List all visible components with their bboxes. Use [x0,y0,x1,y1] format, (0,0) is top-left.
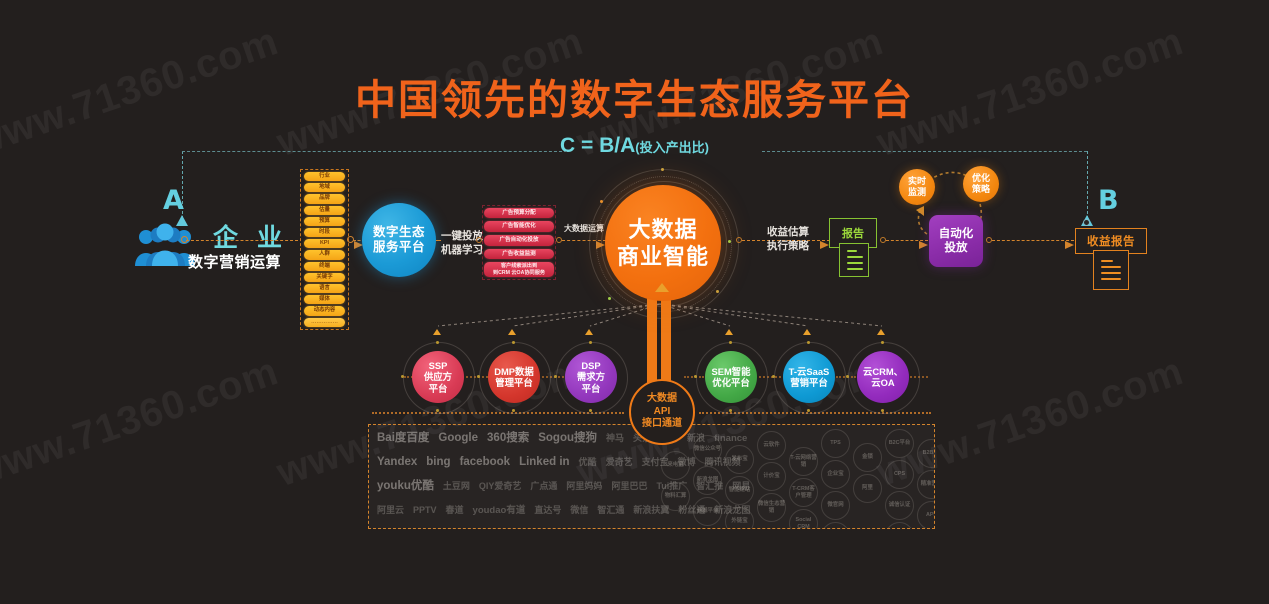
service-bubble[interactable]: Social CRM [789,509,818,529]
tag-item[interactable]: KPI [304,239,345,248]
optimize-line-2: 策略 [972,184,990,195]
fanout-arrow [803,329,811,335]
tag-item[interactable]: 终端 [304,262,345,271]
platform-dot [729,409,732,412]
strategy-label: 收益估算 执行策略 [752,225,824,253]
platform-dot [589,341,592,344]
logo-facebook: facebook [460,457,511,468]
ssp-line-1: SSP [429,360,448,371]
page-title: 中国领先的数字生态服务平台 [0,66,1269,126]
report-label: 报告 [842,225,864,241]
infographic-canvas: www.71360.com www.71360.com www.71360.co… [0,0,1269,604]
strategy-line-1: 收益估算 [752,225,824,239]
service-bubble[interactable]: B2C平台 [885,429,914,458]
ad-item[interactable]: 广告自动化投放 [484,235,554,246]
platform-dot [589,409,592,412]
service-bubble-cluster: 来电宝 物料汇算 微信公众号 新浪龙图 商城平台 发布宝 智能建站 外链宝 云软… [661,429,935,529]
platform-dot [554,375,557,378]
ad-item-crm[interactable]: 客户线索派出到到CRM 云OA协同服务 [484,262,554,277]
orbit-dot [716,290,719,293]
monitor-line-2: 监测 [908,187,926,198]
frame-top-right [762,151,1087,152]
sem-line-2: 优化平台 [712,377,750,388]
tag-item[interactable]: 时段 [304,228,345,237]
service-bubble[interactable]: APP [917,501,935,529]
service-bubble[interactable]: …… [885,522,914,529]
ad-item[interactable]: 广告预算分配 [484,208,554,219]
api-line-1: 大数据 [647,393,677,406]
logo-tudou: 土豆网 [443,481,470,492]
realtime-monitor-circle[interactable]: 实时 监测 [899,169,935,205]
logo-linkedin: Linked in [519,457,569,468]
api-line-3: 接口通道 [642,418,682,431]
ssp-line-2: 供应方 [424,371,452,382]
formula-subtitle: C = B/A(投入产出比) [0,134,1269,158]
logo-yandex: Yandex [377,457,417,468]
service-bubble[interactable]: 微官网 [821,491,850,520]
logo-baidu: Bai度百度 [377,433,429,444]
tag-item[interactable]: 关键字 [304,273,345,282]
ad-operations-list[interactable]: 广告预算分配 广告智能优化 广告自动化投放 广告收益监测 客户线索派出到到CRM… [482,205,556,280]
formula-note: (投入产出比) [635,140,709,155]
platform-dot [694,375,697,378]
platform-dot [477,375,480,378]
service-bubble[interactable]: 企业宝 [821,460,850,489]
connector-arrow-revenue [1065,236,1074,254]
fanout-arrow [725,329,733,335]
logo-bing: bing [426,457,450,468]
connector-node-b [1083,219,1090,226]
tag-item[interactable]: 媒体 [304,295,345,304]
watermark: www.71360.com [0,349,284,496]
service-bubble[interactable]: 计价宝 [757,462,786,491]
platform-dot [881,341,884,344]
service-bubble[interactable]: 微信生态营销 [757,493,786,522]
logo-zhidahao: 直达号 [534,505,561,516]
optimize-strategy-circle[interactable]: 优化 策略 [963,166,999,202]
service-bubble[interactable]: 物料汇算 [661,482,690,511]
platform-dot [729,341,732,344]
marker-a: A [163,185,184,216]
saas-line-1: T-云SaaS [789,366,830,377]
crm-line-2: 云OA [871,377,894,388]
strategy-line-2: 执行策略 [752,239,824,253]
platform-line-1: 数字生态 [373,225,425,240]
data-trunk-right [661,292,671,387]
automation-delivery-box[interactable]: 自动化 投放 [929,215,983,267]
connector-people-to-tags [186,240,298,241]
tag-item[interactable]: 动态内容 [304,306,345,315]
digital-ecosystem-platform-circle[interactable]: 数字生态 服务平台 [362,203,436,277]
logo-wechat: 微信 [570,505,588,516]
service-bubble[interactable]: 阿里 [853,474,882,503]
logo-chundao: 春道 [446,505,464,516]
logo-youku: 优酷 [579,457,597,468]
ad-item[interactable]: 广告收益监测 [484,249,554,260]
connector-blue-out [436,240,441,241]
orbit-dot [661,168,664,171]
platform-circle-dsp[interactable]: DSP 需求方 平台 [565,351,617,403]
platform-dot [846,375,849,378]
enterprise-label: 企 业 [213,218,288,254]
service-bubble[interactable]: CPS [885,460,914,489]
ssp-line-3: 平台 [429,383,448,394]
logo-aliyun: 阿里云 [377,505,404,516]
platform-dot [401,375,404,378]
trunk-arrow-up [655,283,669,292]
connector-automation-to-revenue [992,240,1074,241]
service-bubble[interactable]: 来电宝 [661,451,690,480]
tag-item[interactable]: 估量 [304,206,345,215]
enterprise-sublabel: 数字营销运算 [188,251,281,272]
orbit-dot [608,297,611,300]
logo-alimama: 阿里妈妈 [566,481,602,492]
ad-item[interactable]: 广告智能优化 [484,221,554,232]
logo-qiyi: QIY爱奇艺 [479,481,522,492]
platform-dot [881,409,884,412]
report-document-icon [839,243,869,277]
platform-dot [436,409,439,412]
crm-line-1: 云CRM、 [863,366,903,377]
center-line-1: 大数据 [628,216,697,243]
logo-alibaba: 阿里巴巴 [611,481,647,492]
connector-arrow-report [820,236,829,254]
service-bubble[interactable]: T-云网络营销 [789,447,818,476]
frame-top-left [182,151,567,152]
logo-sogou: Sogou搜狗 [538,433,597,444]
formula-text: C = B/A [560,134,635,157]
dsp-line-2: 需求方 [577,371,605,382]
marker-b: B [1098,185,1119,216]
bigdata-api-gateway-circle[interactable]: 大数据 API 接口通道 [629,379,695,445]
automation-line-2: 投放 [945,241,968,255]
service-bubble[interactable]: TPS [821,429,850,458]
orbit-dot [600,200,603,203]
logo-zhihuitong: 智汇通 [597,505,624,516]
platform-dot [772,375,775,378]
tag-item[interactable]: 预算 [304,217,345,226]
optimize-line-1: 优化 [972,173,990,184]
logo-iqiyi: 爱奇艺 [606,457,633,468]
platform-connector-label: 一键投放 机器学习 [440,229,484,257]
logo-youku-brand: youku优酷 [377,481,434,492]
platform-dot [807,341,810,344]
logo-google: Google [438,433,478,444]
platform-dot [436,341,439,344]
platform-dot [807,409,810,412]
center-line-2: 商业智能 [617,243,709,270]
service-bubble[interactable]: 新浪龙图 [693,466,722,495]
fanout-arrow [508,329,516,335]
data-trunk-left [647,292,657,387]
platform-dot [512,409,515,412]
api-line-2: API [654,406,671,419]
revenue-report-label: 收益报告 [1087,233,1135,249]
platform-circle-saas[interactable]: T-云SaaS 营销平台 [783,351,835,403]
dsp-line-3: 平台 [582,383,601,394]
platform-line-2: 服务平台 [373,240,425,255]
platform-dot [512,341,515,344]
frame-right-vertical [1087,151,1088,219]
tag-item[interactable]: 行业 [304,172,345,181]
dmp-line-1: DMP数据 [494,366,534,377]
service-bubble[interactable]: 发布宝 [725,445,754,474]
service-bubble[interactable]: 金锁 [853,443,882,472]
connector-arrow-automation [919,236,928,254]
logo-youdao: youdao有道 [473,505,526,516]
dmp-line-2: 管理平台 [495,377,533,388]
platform-circle-sem[interactable]: SEM智能 优化平台 [705,351,757,403]
monitor-line-1: 实时 [908,176,926,187]
service-bubble[interactable]: 外链宝 [725,507,754,529]
service-bubble[interactable]: 云软件 [757,431,786,460]
service-bubble[interactable]: 营销邮箱 [821,522,850,529]
service-bubble[interactable]: B2B2C [917,439,935,468]
tag-item[interactable]: 语言 [304,284,345,293]
dsp-line-1: DSP [581,360,600,371]
tag-item[interactable]: 品牌 [304,194,345,203]
targeting-tag-column[interactable]: 行业 地域 品牌 估量 预算 时段 KPI 人群 终端 关键字 语言 媒体 动态… [300,169,349,330]
tag-item[interactable]: 人群 [304,250,345,259]
service-bubble[interactable]: 诚信认证 [885,491,914,520]
logo-guangdiantong: 广点通 [530,481,557,492]
tag-item[interactable]: 地域 [304,183,345,192]
platform-circle-dmp[interactable]: DMP数据 管理平台 [488,351,540,403]
automation-line-1: 自动化 [939,227,974,241]
service-bubble[interactable]: 智能建站 [725,476,754,505]
service-bubble[interactable]: 商城平台 [693,497,722,526]
service-bubble[interactable]: 精准营销 [917,470,935,499]
revenue-document-icon [1093,250,1129,290]
logo-shenma: 神马 [606,433,624,444]
saas-line-2: 营销平台 [790,377,828,388]
sem-line-1: SEM智能 [711,366,750,377]
logo-360: 360搜索 [487,433,529,444]
fanout-arrow [433,329,441,335]
platform-circle-crm[interactable]: 云CRM、 云OA [857,351,909,403]
fanout-arrow [877,329,885,335]
logo-pptv: PPTV [413,505,437,516]
connector-node-start [181,236,188,243]
platform-circle-ssp[interactable]: SSP 供应方 平台 [412,351,464,403]
service-bubble[interactable]: 微信公众号 [693,435,722,464]
fanout-arrow [585,329,593,335]
service-bubble[interactable]: T-CRM客户管理 [789,478,818,507]
connector-label-line-2: 机器学习 [440,243,484,257]
tag-item-more[interactable]: …………… [304,318,345,327]
orbit-dot [728,240,731,243]
